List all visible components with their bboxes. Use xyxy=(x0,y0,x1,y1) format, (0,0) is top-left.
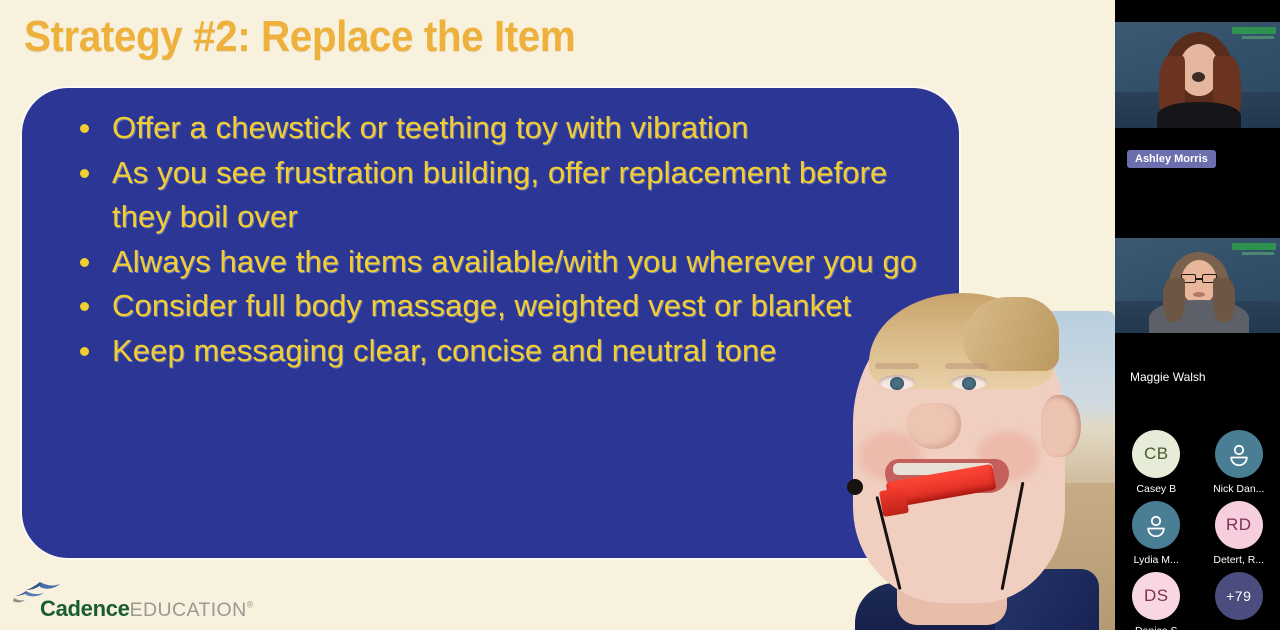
overflow-count: +79 xyxy=(1226,588,1251,604)
photo-ear xyxy=(1041,395,1081,457)
backdrop-logo-sub xyxy=(1242,252,1274,255)
avatar[interactable]: DS xyxy=(1132,572,1180,620)
bullet-list: Offer a chewstick or teething toy with v… xyxy=(62,106,939,373)
participant-name: Lydia M... xyxy=(1134,554,1179,566)
photo-hair-side xyxy=(963,297,1059,371)
photo-brow-left xyxy=(875,363,919,369)
bullet-dot-icon xyxy=(80,302,89,311)
bullet-text: Always have the items available/with you… xyxy=(112,244,917,279)
participant-rail[interactable]: Ashley Morris Maggie Wa xyxy=(1115,0,1280,630)
avatar-cell-lydia-m[interactable]: Lydia M... xyxy=(1115,495,1198,566)
person-icon xyxy=(1227,442,1251,466)
bullet-text: Consider full body massage, weighted ves… xyxy=(112,288,851,323)
participant-name: Detert, R... xyxy=(1213,554,1264,566)
logo-wordmark: CadenceEDUCATION® xyxy=(40,598,253,621)
participant-name: Danica S xyxy=(1135,625,1178,630)
participant-mouth xyxy=(1193,292,1205,297)
list-item: Offer a chewstick or teething toy with v… xyxy=(62,106,939,151)
list-item: Keep messaging clear, concise and neutra… xyxy=(62,329,939,374)
meeting-screen: Strategy #2: Replace the Item Offer a ch… xyxy=(0,0,1280,630)
shared-slide: Strategy #2: Replace the Item Offer a ch… xyxy=(0,0,1115,630)
participant-name: Maggie Walsh xyxy=(1130,370,1206,384)
participant-name: Nick Dan... xyxy=(1213,483,1264,495)
bullet-text: As you see frustration building, offer r… xyxy=(112,155,887,235)
status-badge: Ashley Morris xyxy=(1127,150,1216,168)
avatar-cell-danica-s[interactable]: DS Danica S xyxy=(1115,566,1198,630)
participant-name: Casey B xyxy=(1136,483,1176,495)
avatar-cell-nick-dan[interactable]: Nick Dan... xyxy=(1198,424,1280,495)
cadence-education-logo: CadenceEDUCATION® xyxy=(10,578,240,624)
bullet-text: Keep messaging clear, concise and neutra… xyxy=(112,333,777,368)
page-title: Strategy #2: Replace the Item xyxy=(24,12,575,62)
bullet-dot-icon xyxy=(80,169,89,178)
bullet-panel: Offer a chewstick or teething toy with v… xyxy=(22,88,959,558)
avatar-grid[interactable]: CB Casey B Nick Dan... xyxy=(1115,424,1280,630)
avatar-initials: RD xyxy=(1226,515,1252,535)
logo-primary-text: Cadence xyxy=(40,596,130,621)
bullet-dot-icon xyxy=(80,124,89,133)
list-item: Consider full body massage, weighted ves… xyxy=(62,284,939,329)
participant-hair-right xyxy=(1213,278,1235,322)
backdrop-logo xyxy=(1232,27,1276,34)
logo-secondary-text: EDUCATION xyxy=(130,599,247,621)
video-tile-maggie-walsh[interactable]: Maggie Walsh xyxy=(1115,200,1280,420)
avatar-cell-detert-r[interactable]: RD Detert, R... xyxy=(1198,495,1280,566)
participant-mouth xyxy=(1192,72,1205,82)
bullet-text: Offer a chewstick or teething toy with v… xyxy=(112,110,749,145)
person-icon xyxy=(1144,513,1168,537)
slide-photo-boy-with-chew-tool xyxy=(845,283,1115,630)
video-feed xyxy=(1115,22,1280,128)
photo-nose xyxy=(907,403,961,449)
backdrop-logo xyxy=(1232,243,1276,250)
photo-cord-clip xyxy=(847,479,863,495)
avatar-cell-overflow[interactable]: +79 xyxy=(1198,566,1280,630)
photo-iris-left xyxy=(890,377,904,390)
avatar-initials: CB xyxy=(1144,444,1169,464)
video-feed xyxy=(1115,238,1280,333)
avatar-initials: DS xyxy=(1144,586,1169,606)
overflow-count-avatar[interactable]: +79 xyxy=(1215,572,1263,620)
logo-trademark: ® xyxy=(247,600,254,610)
bullet-dot-icon xyxy=(80,347,89,356)
photo-iris-right xyxy=(962,377,976,390)
photo-chew-tool-tab xyxy=(879,487,909,517)
participant-hair-left xyxy=(1163,278,1185,322)
list-item: Always have the items available/with you… xyxy=(62,240,939,285)
video-tile-ashley-morris[interactable]: Ashley Morris xyxy=(1115,0,1280,200)
participant-torso xyxy=(1157,102,1241,128)
avatar[interactable] xyxy=(1132,501,1180,549)
photo-brow-right xyxy=(945,363,989,369)
list-item: As you see frustration building, offer r… xyxy=(62,151,939,240)
avatar[interactable]: RD xyxy=(1215,501,1263,549)
backdrop-logo-sub xyxy=(1242,36,1274,39)
bullet-dot-icon xyxy=(80,258,89,267)
glasses-icon xyxy=(1181,274,1217,283)
avatar[interactable]: CB xyxy=(1132,430,1180,478)
avatar-cell-casey-b[interactable]: CB Casey B xyxy=(1115,424,1198,495)
avatar[interactable] xyxy=(1215,430,1263,478)
